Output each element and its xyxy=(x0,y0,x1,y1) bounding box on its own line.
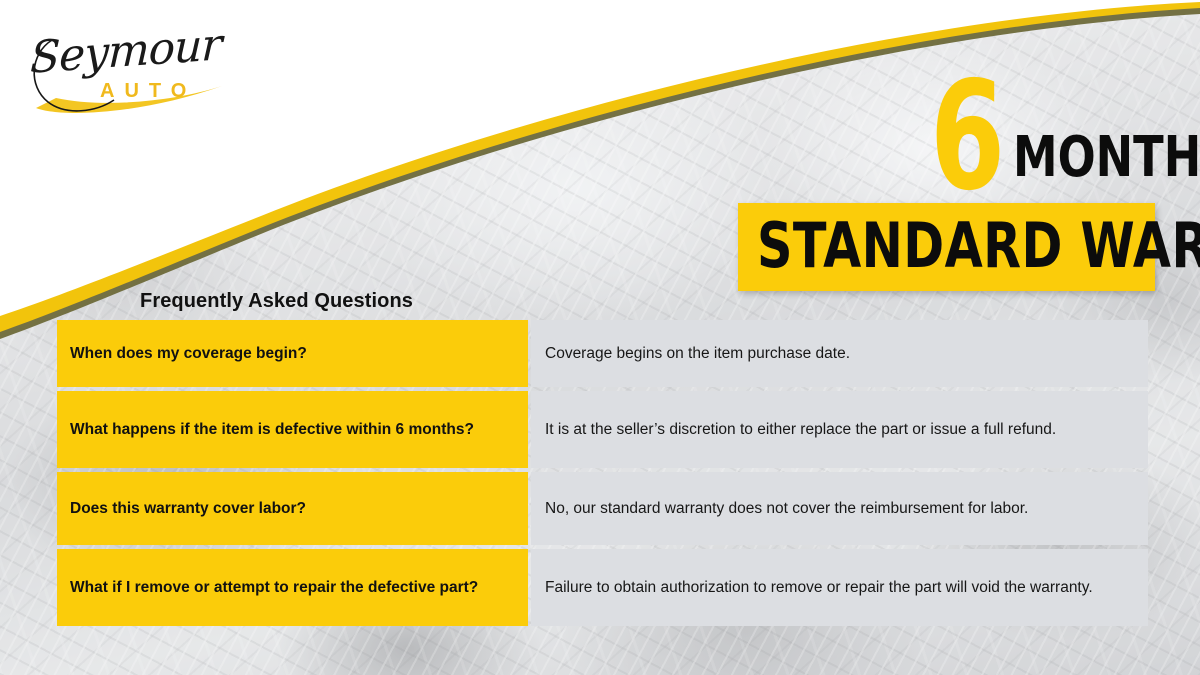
warranty-duration-headline: 6 MONTH xyxy=(900,78,1170,198)
faq-answer-cell: No, our standard warranty does not cover… xyxy=(531,472,1148,545)
seymour-auto-logo: Seymour AUTO xyxy=(22,22,237,122)
duration-unit: MONTH xyxy=(1013,130,1200,186)
faq-answer-cell: It is at the seller’s discretion to eith… xyxy=(531,391,1148,468)
faq-question-cell: Does this warranty cover labor? xyxy=(57,472,528,545)
duration-number: 6 xyxy=(930,62,1004,212)
table-row: What happens if the item is defective wi… xyxy=(57,391,1148,468)
faq-question-cell: What happens if the item is defective wi… xyxy=(57,391,528,468)
warranty-slide: Seymour AUTO 6 MONTH STANDARD WARRANTY F… xyxy=(0,0,1200,675)
table-row: When does my coverage begin? Coverage be… xyxy=(57,320,1148,387)
standard-warranty-banner: STANDARD WARRANTY xyxy=(738,203,1155,291)
faq-question-cell: When does my coverage begin? xyxy=(57,320,528,387)
logo-subtitle: AUTO xyxy=(100,80,196,103)
faq-answer-text: Failure to obtain authorization to remov… xyxy=(545,577,1135,599)
faq-answer-text: Coverage begins on the item purchase dat… xyxy=(545,343,1135,365)
faq-answer-cell: Failure to obtain authorization to remov… xyxy=(531,549,1148,626)
faq-section-title: Frequently Asked Questions xyxy=(140,290,413,313)
standard-warranty-banner-text: STANDARD WARRANTY xyxy=(757,211,1200,281)
table-row: What if I remove or attempt to repair th… xyxy=(57,549,1148,626)
faq-question-cell: What if I remove or attempt to repair th… xyxy=(57,549,528,626)
faq-answer-text: No, our standard warranty does not cover… xyxy=(545,498,1135,520)
table-row: Does this warranty cover labor? No, our … xyxy=(57,472,1148,545)
faq-answer-text: It is at the seller’s discretion to eith… xyxy=(545,419,1135,441)
faq-answer-cell: Coverage begins on the item purchase dat… xyxy=(531,320,1148,387)
faq-table: When does my coverage begin? Coverage be… xyxy=(57,320,1148,626)
